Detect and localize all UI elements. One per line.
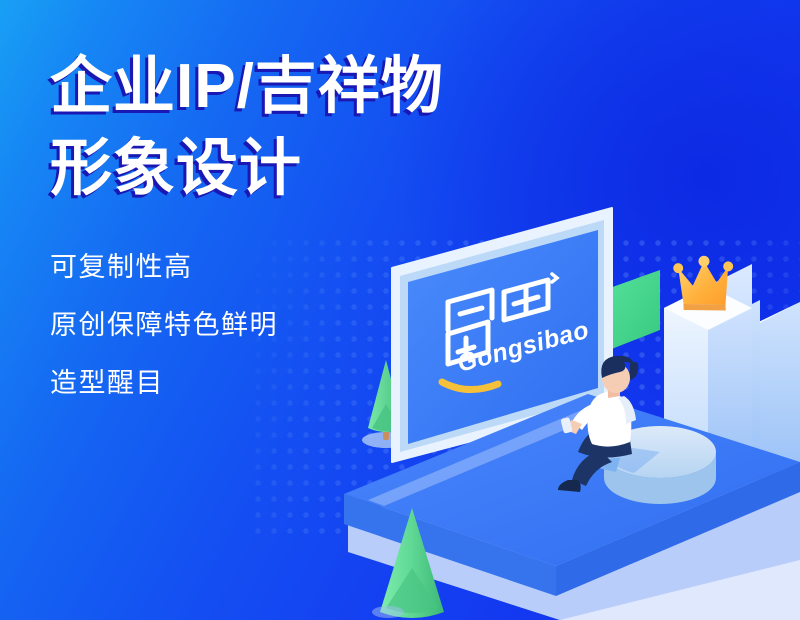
bar-1 [664, 264, 752, 496]
mid-tree [372, 606, 404, 618]
logo-wordmark-text: Gongsibao [454, 316, 592, 378]
feature-item-1: 可复制性高 [50, 254, 470, 281]
green-accent-panel [604, 270, 660, 352]
dot-pattern-field-secondary [600, 430, 800, 610]
banner-copy: 企业IP/吉祥物 形象设计 可复制性高 原创保障特色鲜明 造型醒目 [50, 46, 470, 428]
feature-list: 可复制性高 原创保障特色鲜明 造型醒目 [50, 254, 470, 397]
isometric-platform [344, 394, 800, 620]
seated-person [558, 356, 638, 492]
page-title: 企业IP/吉祥物 形象设计 [50, 46, 470, 210]
headline-line-1: 企业IP/吉祥物 [50, 46, 470, 128]
feature-item-2: 原创保障特色鲜明 [50, 312, 470, 339]
pie-chart-seat [598, 426, 716, 504]
promo-banner: Gongsibao [0, 0, 800, 620]
large-tree [380, 508, 444, 618]
headline-line-2: 形象设计 [50, 128, 470, 210]
bar-3 [700, 302, 800, 520]
feature-item-3: 造型醒目 [50, 370, 470, 397]
bar-2 [672, 300, 760, 510]
crown-icon [673, 255, 735, 313]
isometric-bar-chart [664, 255, 800, 520]
